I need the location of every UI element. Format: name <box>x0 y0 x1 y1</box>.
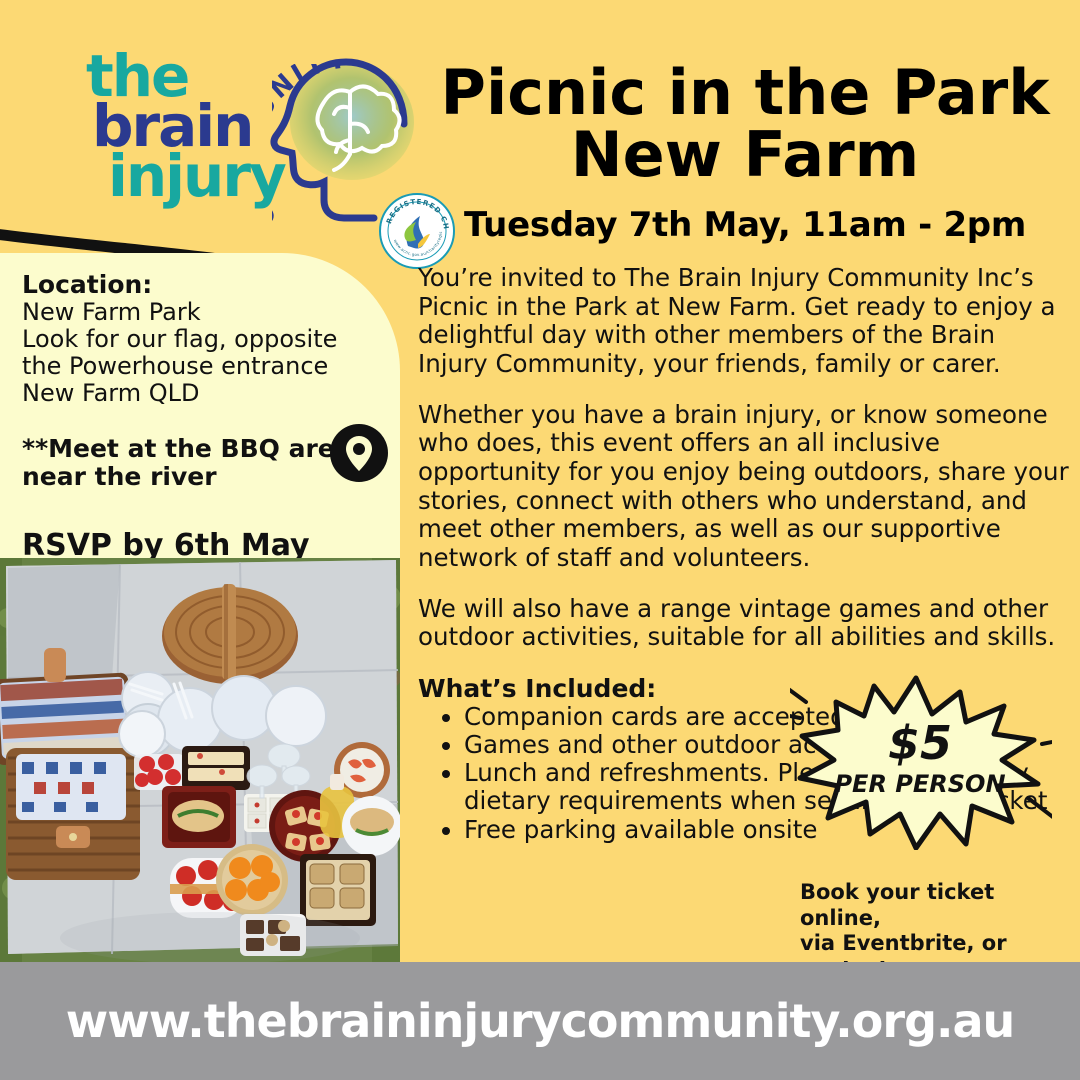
booking-line-1: Book your ticket online, <box>800 880 1075 931</box>
footer-bar: www.thebraininjurycommunity.org.au <box>0 962 1080 1080</box>
paragraph-3: We will also have a range vintage games … <box>418 595 1070 652</box>
picnic-photo <box>0 558 400 962</box>
paragraph-1: You’re invited to The Brain Injury Commu… <box>418 264 1070 379</box>
location-heading: Location: <box>22 271 352 299</box>
meet-point-line-1: **Meet at the BBQ area <box>22 435 352 464</box>
poster-canvas: COMMUNITY the brain injury REGISTERED CH… <box>0 0 1080 1080</box>
location-line-2: Look for our flag, opposite <box>22 326 352 353</box>
event-title: Picnic in the Park New Farm <box>420 62 1070 186</box>
location-line-1: New Farm Park <box>22 299 352 326</box>
event-title-line-2: New Farm <box>420 124 1070 186</box>
event-datetime: Tuesday 7th May, 11am - 2pm <box>420 205 1070 245</box>
location-line-3: the Powerhouse entrance <box>22 353 352 380</box>
meet-point-line-2: near the river <box>22 463 352 492</box>
location-text-block: Location: New Farm Park Look for our fla… <box>22 271 352 598</box>
location-panel: Location: New Farm Park Look for our fla… <box>0 253 400 558</box>
location-line-4: New Farm QLD <box>22 380 352 407</box>
picnic-photo-illustration <box>0 558 400 962</box>
logo-wordmark: the brain injury <box>86 52 336 202</box>
logo-line-injury: injury <box>108 152 336 202</box>
map-pin-icon <box>330 424 388 482</box>
paragraph-2: Whether you have a brain injury, or know… <box>418 401 1070 573</box>
website-url[interactable]: www.thebraininjurycommunity.org.au <box>66 994 1015 1048</box>
price-starburst-badge <box>790 668 1052 850</box>
